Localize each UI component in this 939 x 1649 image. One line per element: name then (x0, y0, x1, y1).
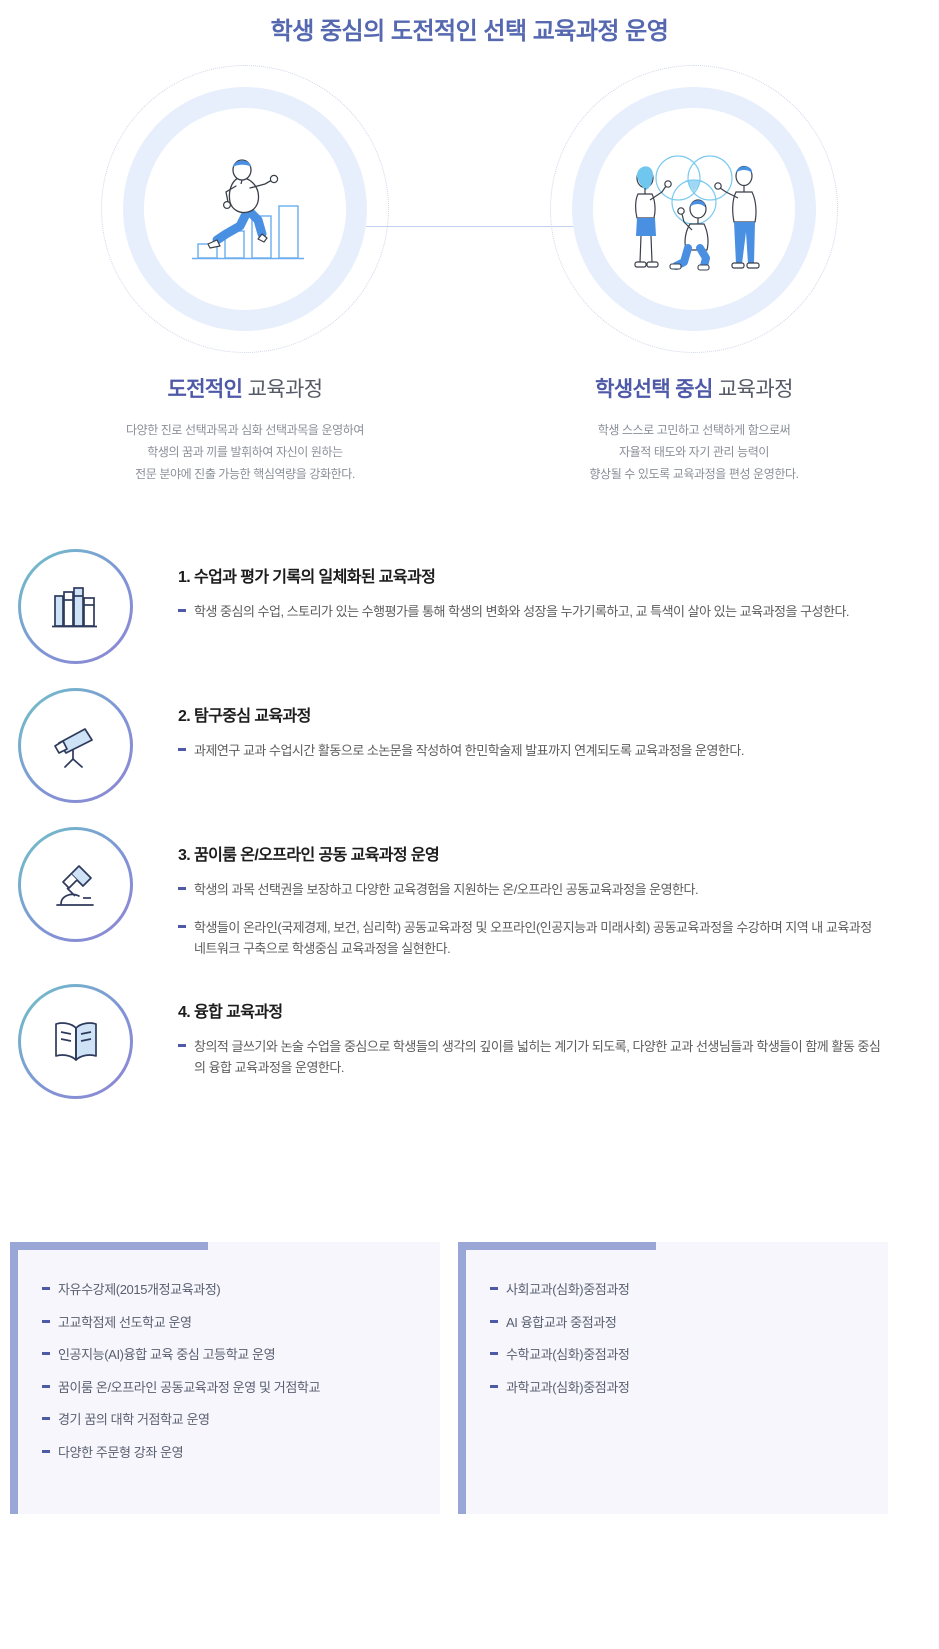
list-item-text: 고교학점제 선도학교 운영 (58, 1313, 192, 1333)
feature-item: 2. 탐구중심 교육과정 과제연구 교과 수업시간 활동으로 소논문을 작성하여… (18, 688, 939, 803)
hero-section: 도전적인 교육과정 다양한 진로 선택과목과 심화 선택과목을 운영하여학생의 … (0, 65, 939, 525)
features-list: 1. 수업과 평가 기록의 일체화된 교육과정 학생 중심의 수업, 스토리가 … (0, 549, 939, 1098)
dash-bullet-icon (42, 1450, 50, 1453)
hero-circle-left (101, 65, 389, 353)
dash-bullet-icon (490, 1385, 498, 1388)
hero-heading-accent: 도전적인 (167, 378, 242, 401)
feature-point: 학생들이 온라인(국제경제, 보건, 심리학) 공동교육과정 및 오프라인(인공… (178, 917, 939, 960)
dash-bullet-icon (178, 925, 186, 928)
feature-title: 1. 수업과 평가 기록의 일체화된 교육과정 (178, 563, 939, 587)
list-item: 다양한 주문형 강좌 운영 (42, 1443, 414, 1463)
hero-column-left: 도전적인 교육과정 다양한 진로 선택과목과 심화 선택과목을 운영하여학생의 … (30, 65, 460, 485)
hero-heading-left: 도전적인 교육과정 (30, 375, 460, 404)
feature-point: 학생의 과목 선택권을 보장하고 다양한 교육경험을 지원하는 온/오프라인 공… (178, 879, 939, 900)
summary-box-right: 사회교과(심화)중점과정 AI 융합교과 중점과정 수학교과(심화)중점과정 과… (458, 1242, 888, 1514)
dash-bullet-icon (42, 1320, 50, 1323)
dash-bullet-icon (42, 1417, 50, 1420)
feature-item: 1. 수업과 평가 기록의 일체화된 교육과정 학생 중심의 수업, 스토리가 … (18, 549, 939, 664)
feature-point-text: 학생 중심의 수업, 스토리가 있는 수행평가를 통해 학생의 변화와 성장을 … (194, 601, 849, 622)
list-item: 사회교과(심화)중점과정 (490, 1280, 862, 1300)
list-item-text: 경기 꿈의 대학 거점학교 운영 (58, 1410, 210, 1430)
hero-column-right: 학생선택 중심 교육과정 학생 스스로 고민하고 선택하게 함으로써자율적 태도… (479, 65, 909, 485)
dash-bullet-icon (178, 609, 186, 612)
feature-point-text: 학생의 과목 선택권을 보장하고 다양한 교육경험을 지원하는 온/오프라인 공… (194, 879, 698, 900)
feature-body: 2. 탐구중심 교육과정 과제연구 교과 수업시간 활동으로 소논문을 작성하여… (133, 688, 939, 761)
dash-bullet-icon (490, 1352, 498, 1355)
hero-description-right: 학생 스스로 고민하고 선택하게 함으로써자율적 태도와 자기 관리 능력이향상… (479, 419, 909, 486)
feature-body: 4. 융합 교육과정 창의적 글쓰기와 논술 수업을 중심으로 학생들의 생각의… (133, 984, 939, 1079)
list-item: 고교학점제 선도학교 운영 (42, 1313, 414, 1333)
feature-point-text: 학생들이 온라인(국제경제, 보건, 심리학) 공동교육과정 및 오프라인(인공… (194, 917, 884, 960)
list-item: 수학교과(심화)중점과정 (490, 1345, 862, 1365)
dash-bullet-icon (42, 1385, 50, 1388)
person-climbing-bar-chart-icon (144, 108, 346, 310)
dash-bullet-icon (178, 1044, 186, 1047)
feature-point: 창의적 글쓰기와 논술 수업을 중심으로 학생들의 생각의 깊이를 넓히는 계기… (178, 1036, 939, 1079)
hero-heading-rest: 교육과정 (713, 378, 793, 401)
telescope-icon (18, 688, 133, 803)
feature-point: 학생 중심의 수업, 스토리가 있는 수행평가를 통해 학생의 변화와 성장을 … (178, 601, 939, 622)
list-item-text: AI 융합교과 중점과정 (506, 1313, 616, 1333)
summary-box-left: 자유수강제(2015개정교육과정) 고교학점제 선도학교 운영 인공지능(AI)… (10, 1242, 440, 1514)
dash-bullet-icon (490, 1287, 498, 1290)
list-item: 경기 꿈의 대학 거점학교 운영 (42, 1410, 414, 1430)
list-item: 과학교과(심화)중점과정 (490, 1378, 862, 1398)
dash-bullet-icon (42, 1287, 50, 1290)
hero-description-left: 다양한 진로 선택과목과 심화 선택과목을 운영하여학생의 꿈과 끼를 발휘하여… (30, 419, 460, 486)
feature-item: 4. 융합 교육과정 창의적 글쓰기와 논술 수업을 중심으로 학생들의 생각의… (18, 984, 939, 1099)
books-icon (18, 549, 133, 664)
list-item: AI 융합교과 중점과정 (490, 1313, 862, 1333)
dash-bullet-icon (178, 748, 186, 751)
feature-body: 3. 꿈이룸 온/오프라인 공동 교육과정 운영 학생의 과목 선택권을 보장하… (133, 827, 939, 959)
open-book-icon (18, 984, 133, 1099)
hero-heading-accent: 학생선택 중심 (595, 378, 713, 401)
dash-bullet-icon (42, 1352, 50, 1355)
feature-point: 과제연구 교과 수업시간 활동으로 소논문을 작성하여 한민학술제 발표까지 연… (178, 740, 939, 761)
dash-bullet-icon (490, 1320, 498, 1323)
list-item: 자유수강제(2015개정교육과정) (42, 1280, 414, 1300)
microscope-icon (18, 827, 133, 942)
feature-item: 3. 꿈이룸 온/오프라인 공동 교육과정 운영 학생의 과목 선택권을 보장하… (18, 827, 939, 959)
list-item-text: 수학교과(심화)중점과정 (506, 1345, 629, 1365)
list-item-text: 과학교과(심화)중점과정 (506, 1378, 629, 1398)
feature-title: 3. 꿈이룸 온/오프라인 공동 교육과정 운영 (178, 841, 939, 865)
list-item-text: 자유수강제(2015개정교육과정) (58, 1280, 220, 1300)
page-title: 학생 중심의 도전적인 선택 교육과정 운영 (0, 0, 939, 47)
list-item-text: 사회교과(심화)중점과정 (506, 1280, 629, 1300)
hero-heading-right: 학생선택 중심 교육과정 (479, 375, 909, 404)
feature-point-text: 창의적 글쓰기와 논술 수업을 중심으로 학생들의 생각의 깊이를 넓히는 계기… (194, 1036, 884, 1079)
list-item: 인공지능(AI)융합 교육 중심 고등학교 운영 (42, 1345, 414, 1365)
dash-bullet-icon (178, 887, 186, 890)
hero-heading-rest: 교육과정 (242, 378, 322, 401)
list-item-text: 다양한 주문형 강좌 운영 (58, 1443, 183, 1463)
feature-title: 4. 융합 교육과정 (178, 998, 939, 1022)
hero-circle-right (550, 65, 838, 353)
list-item-text: 꿈이룸 온/오프라인 공동교육과정 운영 및 거점학교 (58, 1378, 320, 1398)
list-item: 꿈이룸 온/오프라인 공동교육과정 운영 및 거점학교 (42, 1378, 414, 1398)
feature-body: 1. 수업과 평가 기록의 일체화된 교육과정 학생 중심의 수업, 스토리가 … (133, 549, 939, 622)
feature-point-text: 과제연구 교과 수업시간 활동으로 소논문을 작성하여 한민학술제 발표까지 연… (194, 740, 744, 761)
list-item-text: 인공지능(AI)융합 교육 중심 고등학교 운영 (58, 1345, 275, 1365)
feature-title: 2. 탐구중심 교육과정 (178, 702, 939, 726)
three-people-venn-diagram-icon (593, 108, 795, 310)
summary-boxes: 자유수강제(2015개정교육과정) 고교학점제 선도학교 운영 인공지능(AI)… (10, 1242, 929, 1514)
